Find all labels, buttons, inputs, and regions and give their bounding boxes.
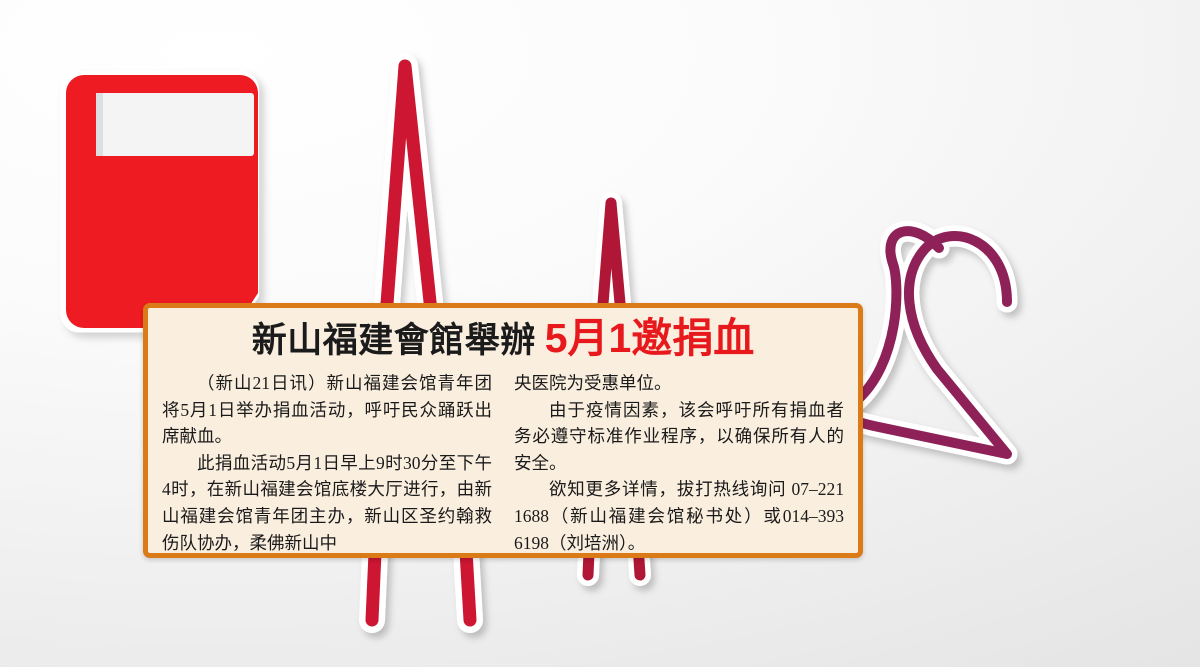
news-info-card: 新山福建會館舉辦5月1邀捐血 （新山21日讯）新山福建会馆青年团将5月1日举办捐… [143,303,863,558]
page-title: 新山福建會館舉辦5月1邀捐血 [148,318,858,359]
paragraph: 由于疫情因素，该会呼吁所有捐血者务必遵守标准作业程序，以确保所有人的安全。 [514,397,844,477]
blood-donation-poster: 新山福建會館舉辦5月1邀捐血 （新山21日讯）新山福建会馆青年团将5月1日举办捐… [0,0,1200,667]
paragraph: 央医院为受惠单位。 [514,370,844,397]
article-column-left: （新山21日讯）新山福建会馆青年团将5月1日举办捐血活动，呼吁民众踊跃出席献血。… [162,370,492,556]
headline-red-text: 5月1邀捐血 [545,315,755,361]
article-column-right: 央医院为受惠单位。 由于疫情因素，该会呼吁所有捐血者务必遵守标准作业程序，以确保… [514,370,844,556]
heart-outline-icon [845,231,1007,454]
paragraph: 欲知更多详情，拔打热线询问 07–221 1688（新山福建会馆秘书处）或014… [514,476,844,556]
paragraph: 此捐血活动5月1日早上9时30分至下午4时，在新山福建会馆底楼大厅进行，由新山福… [162,450,492,556]
headline-black-text: 新山福建會館舉辦 [252,321,536,360]
paragraph: （新山21日讯）新山福建会馆青年团将5月1日举办捐血活动，呼吁民众踊跃出席献血。 [162,370,492,450]
article-body: （新山21日讯）新山福建会馆青年团将5月1日举办捐血活动，呼吁民众踊跃出席献血。… [162,370,844,556]
